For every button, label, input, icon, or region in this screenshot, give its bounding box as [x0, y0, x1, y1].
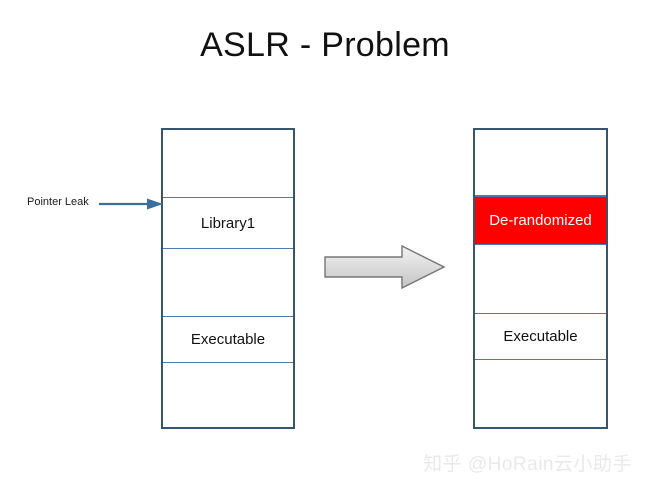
transition-arrow-icon — [320, 243, 450, 291]
memory-cell-empty-bottom-before — [163, 363, 293, 427]
memory-cell-label: De-randomized — [489, 213, 592, 228]
memory-cell-label: Library1 — [201, 216, 255, 231]
memory-cell-library1: Library1 — [163, 198, 293, 249]
memory-cell-de-randomized: De-randomized — [475, 196, 606, 245]
memory-cell-empty-top-after — [475, 130, 606, 196]
pointer-leak-arrow-icon — [99, 194, 165, 214]
memory-layout-before: Library1 Executable — [161, 128, 295, 429]
pointer-leak-label: Pointer Leak — [27, 196, 89, 208]
memory-cell-label: Executable — [191, 332, 265, 347]
memory-cell-executable-after: Executable — [475, 314, 606, 360]
memory-layout-after: De-randomized Executable — [473, 128, 608, 429]
memory-cell-empty-top-before — [163, 130, 293, 198]
memory-cell-executable-before: Executable — [163, 317, 293, 363]
memory-cell-empty-bottom-after — [475, 360, 606, 427]
memory-cell-empty-mid-before — [163, 249, 293, 317]
slide-canvas: ASLR - Problem Library1 Executable De-ra… — [0, 0, 650, 488]
memory-cell-label: Executable — [503, 329, 577, 344]
memory-cell-empty-mid-after — [475, 245, 606, 314]
watermark: 知乎 @HoRain云小助手 — [423, 449, 632, 476]
page-title: ASLR - Problem — [0, 26, 650, 65]
